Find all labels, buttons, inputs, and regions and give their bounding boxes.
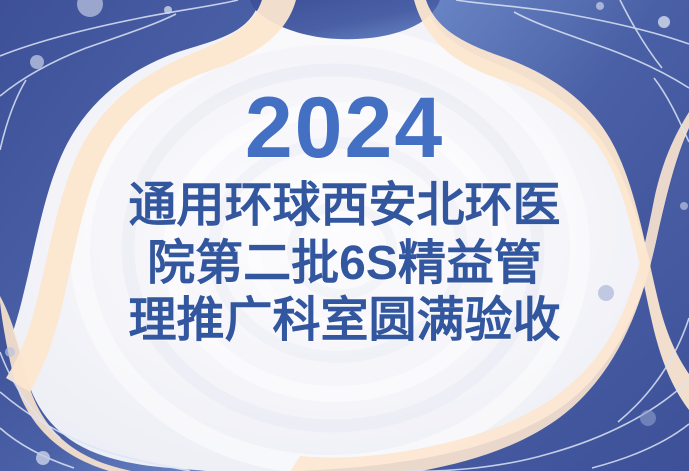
poster-headline: 通用环球西安北环医 院第二批6S精益管 理推广科室圆满验收 <box>128 180 560 347</box>
headline-line-2: 院第二批6S精益管 <box>147 238 542 290</box>
headline-line-3: 理推广科室圆满验收 <box>128 295 560 347</box>
poster-year: 2024 <box>245 88 444 170</box>
poster-canvas: 2024 通用环球西安北环医 院第二批6S精益管 理推广科室圆满验收 <box>0 0 689 471</box>
poster-content: 2024 通用环球西安北环医 院第二批6S精益管 理推广科室圆满验收 <box>0 0 689 471</box>
headline-line-1: 通用环球西安北环医 <box>128 180 560 232</box>
